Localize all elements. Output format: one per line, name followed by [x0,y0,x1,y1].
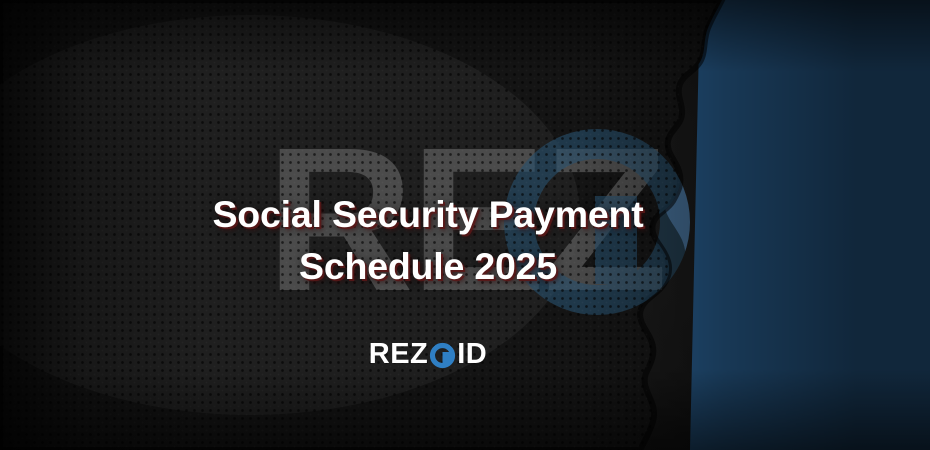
page-title: Social Security Payment Schedule 2025 [0,188,856,292]
brand-logo-suffix: ID [457,340,487,369]
brand-logo-prefix: REZ [369,340,429,369]
brand-logo-lockup: REZ ID [369,340,488,369]
rezaid-circle-mark-icon [429,341,456,370]
promo-banner: REZ ID REZ ID [0,0,930,450]
brand-logo[interactable]: REZ ID [0,340,856,369]
